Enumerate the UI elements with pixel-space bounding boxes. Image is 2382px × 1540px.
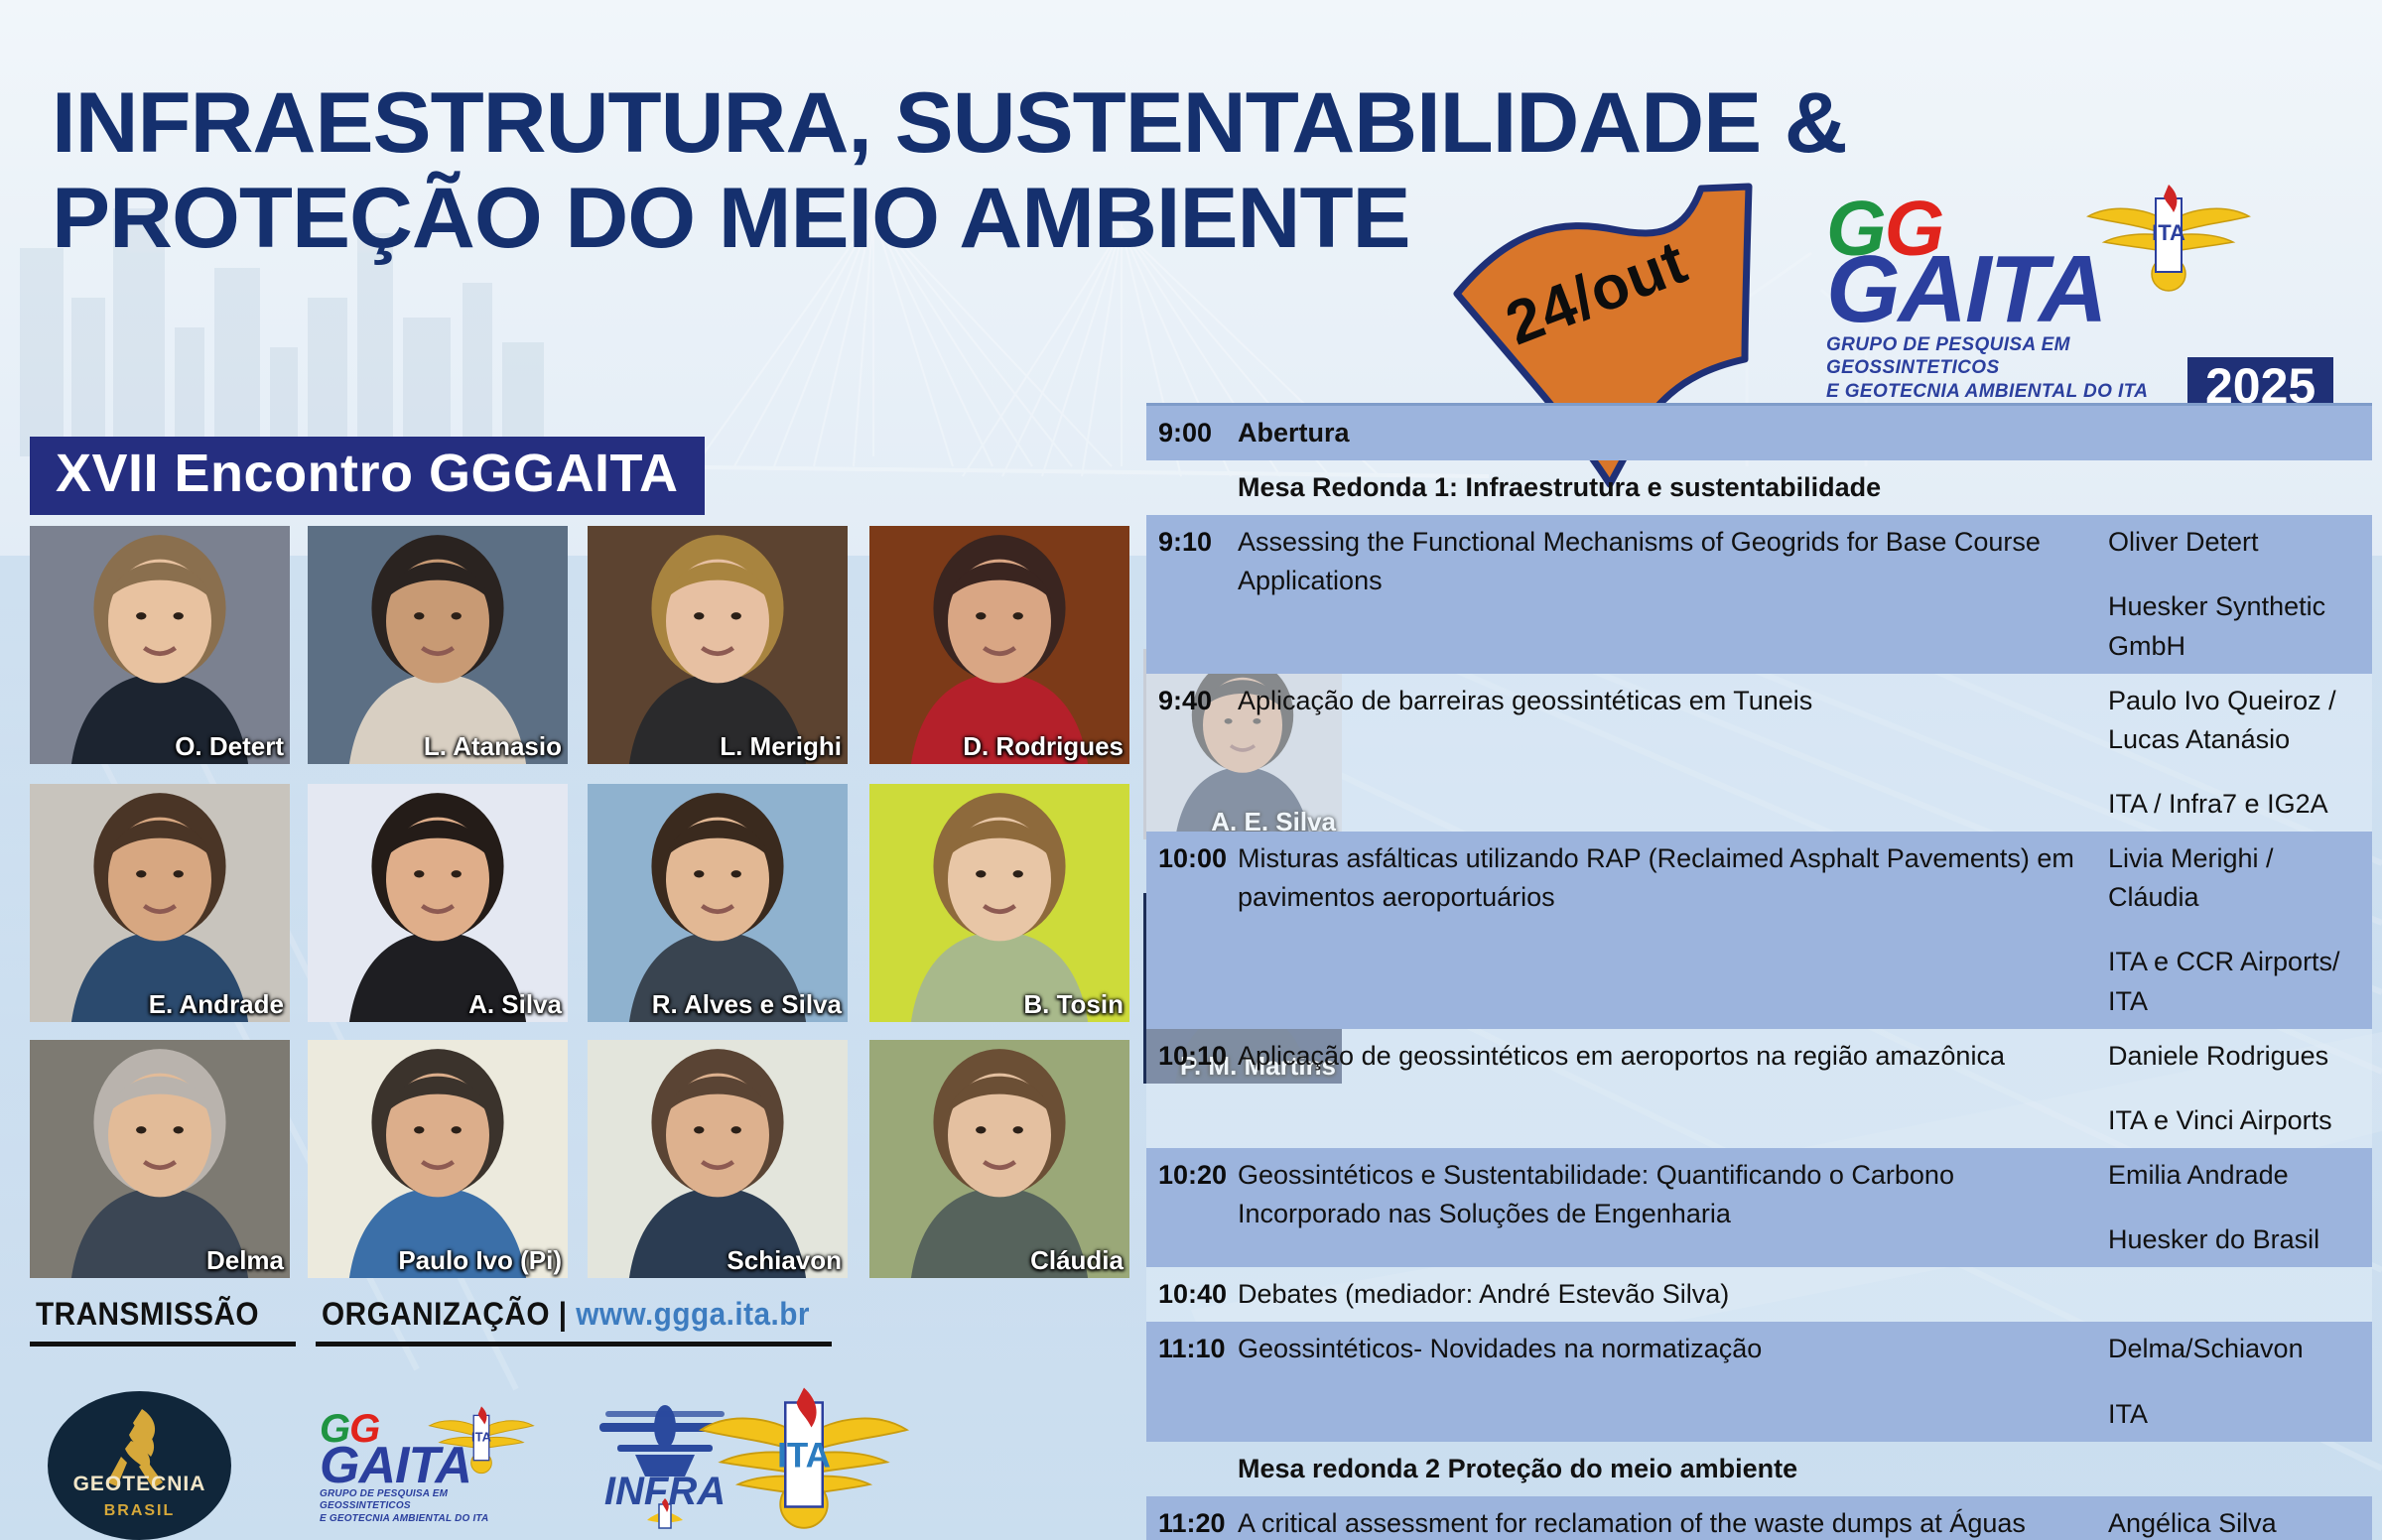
event-banner: XVII Encontro GGGAITA	[30, 437, 705, 515]
speaker-name-label: Schiavon	[727, 1245, 842, 1276]
speaker-name-label: L. Merighi	[720, 731, 842, 762]
schedule-time	[1146, 1442, 1238, 1451]
logo-subtitle-1: GRUPO DE PESQUISA EM GEOSSINTETICOS	[1826, 333, 2243, 381]
speaker-name: Paulo Ivo Queiroz / Lucas Atanásio	[2108, 686, 2336, 754]
organization-website[interactable]: www.ggga.ita.br	[576, 1296, 810, 1332]
schedule-row: 10:00Misturas asfálticas utilizando RAP …	[1146, 832, 2372, 1029]
svg-text:ITA: ITA	[471, 1429, 491, 1444]
svg-text:ITA: ITA	[777, 1437, 831, 1476]
schedule-title: Aplicação de barreiras geossintéticas em…	[1238, 674, 2102, 728]
schedule-title: Geossintéticos- Novidades na normatizaçã…	[1238, 1322, 2102, 1376]
footer-logo-sub-2: E GEOTECNIA AMBIENTAL DO ITA	[320, 1513, 528, 1526]
speaker-affiliation: ITA	[2108, 1395, 2366, 1434]
speaker-photo: L. Merighi	[588, 526, 848, 764]
schedule-row: 10:40Debates (mediador: André Estevão Si…	[1146, 1267, 2372, 1322]
speaker-affiliation: ITA e Vinci Airports	[2108, 1101, 2366, 1140]
page-title: INFRAESTRUTURA, SUSTENTABILIDADE & PROTE…	[52, 75, 1501, 267]
schedule-time: 9:00	[1146, 406, 1238, 450]
schedule-time: 11:10	[1146, 1322, 1238, 1366]
schedule-title: Aplicação de geossintéticos em aeroporto…	[1238, 1029, 2102, 1084]
schedule-row: 9:40Aplicação de barreiras geossintética…	[1146, 674, 2372, 832]
portrait-illustration	[588, 526, 848, 764]
logo-subtitle-2: E GEOTECNIA AMBIENTAL DO ITA	[1826, 380, 2243, 404]
speaker-affiliation: ITA e CCR Airports/ ITA	[2108, 943, 2366, 1020]
speaker-photo: Delma	[30, 1040, 290, 1278]
geotecnia-brasil-logo: GEOTECNIA BRASIL	[48, 1391, 231, 1540]
speaker-name-label: E. Andrade	[149, 989, 284, 1020]
speaker-name: Delma/Schiavon	[2108, 1334, 2304, 1363]
portrait-illustration	[308, 1040, 568, 1278]
schedule-row: 9:10Assessing the Functional Mechanisms …	[1146, 515, 2372, 673]
schedule-row: Mesa redonda 2 Proteção do meio ambiente	[1146, 1442, 2372, 1496]
portrait-illustration	[30, 1040, 290, 1278]
speaker-name: Livia Merighi / Cláudia	[2108, 843, 2274, 912]
speaker-name-label: D. Rodrigues	[963, 731, 1124, 762]
schedule-title: Misturas asfálticas utilizando RAP (Recl…	[1238, 832, 2102, 925]
organization-rule	[316, 1342, 832, 1347]
speaker-photo: Schiavon	[588, 1040, 848, 1278]
schedule-row: 11:10Geossintéticos- Novidades na normat…	[1146, 1322, 2372, 1441]
organization-text: ORGANIZAÇÃO |	[322, 1296, 567, 1332]
schedule-speaker: Paulo Ivo Queiroz / Lucas AtanásioITA / …	[2102, 674, 2372, 832]
schedule-row: 10:10Aplicação de geossintéticos em aero…	[1146, 1029, 2372, 1148]
schedule-time: 11:20	[1146, 1496, 1238, 1540]
speaker-photo: A. Silva	[308, 784, 568, 1022]
schedule-row: 9:00Abertura	[1146, 403, 2372, 460]
portrait-illustration	[30, 526, 290, 764]
schedule-time: 10:40	[1146, 1267, 1238, 1312]
speaker-name-label: O. Detert	[175, 731, 284, 762]
schedule-speaker: Daniele RodriguesITA e Vinci Airports	[2102, 1029, 2372, 1148]
speaker-photo: D. Rodrigues	[869, 526, 1129, 764]
speaker-photo: R. Alves e Silva	[588, 784, 848, 1022]
schedule-title: Geossintéticos e Sustentabilidade: Quant…	[1238, 1148, 2102, 1241]
schedule-title: Assessing the Functional Mechanisms of G…	[1238, 515, 2102, 608]
schedule-time: 10:00	[1146, 832, 1238, 876]
speaker-affiliation: ITA / Infra7 e IG2A	[2108, 785, 2366, 824]
speaker-name-label: B. Tosin	[1023, 989, 1124, 1020]
speaker-name-label: L. Atanasio	[424, 731, 562, 762]
schedule-speaker: Delma/SchiavonITA	[2102, 1322, 2372, 1441]
schedule-title: Abertura	[1238, 406, 2102, 460]
schedule-speaker: Livia Merighi / CláudiaITA e CCR Airport…	[2102, 832, 2372, 1029]
speaker-photo: E. Andrade	[30, 784, 290, 1022]
speaker-name-label: A. Silva	[468, 989, 562, 1020]
schedule-speaker: Angélica SilvaVale	[2102, 1496, 2372, 1540]
speaker-name-label: Paulo Ivo (Pi)	[398, 1245, 562, 1276]
footer-logo-sub-1: GRUPO DE PESQUISA EM GEOSSINTETICOS	[320, 1488, 528, 1513]
schedule-speaker	[2102, 460, 2372, 476]
schedule-speaker	[2102, 1267, 2372, 1283]
speaker-photo: Paulo Ivo (Pi)	[308, 1040, 568, 1278]
schedule-speaker	[2102, 1442, 2372, 1458]
transmission-label: TRANSMISSÃO	[36, 1296, 259, 1333]
speaker-photo: O. Detert	[30, 526, 290, 764]
portrait-illustration	[588, 1040, 848, 1278]
speaker-affiliation: Huesker Synthetic GmbH	[2108, 587, 2366, 665]
speaker-name-label: R. Alves e Silva	[652, 989, 842, 1020]
ita-wings-label: ITA	[2152, 220, 2185, 245]
footer-ita-wings-icon: ITA	[427, 1401, 536, 1478]
schedule-table: 9:00AberturaMesa Redonda 1: Infraestrutu…	[1146, 403, 2372, 1540]
schedule-time: 10:20	[1146, 1148, 1238, 1193]
schedule-speaker: Oliver DetertHuesker Synthetic GmbH	[2102, 515, 2372, 673]
organization-label: ORGANIZAÇÃO | www.ggga.ita.br	[322, 1296, 810, 1333]
geotecnia-name: GEOTECNIA	[48, 1473, 231, 1496]
schedule-title: Mesa redonda 2 Proteção do meio ambiente	[1238, 1442, 2102, 1496]
ita-wings-large-icon: ITA	[695, 1385, 913, 1534]
speaker-name: Emilia Andrade	[2108, 1160, 2289, 1190]
schedule-title: Mesa Redonda 1: Infraestrutura e sustent…	[1238, 460, 2102, 515]
portrait-illustration	[588, 784, 848, 1022]
speaker-name-label: Delma	[206, 1245, 284, 1276]
schedule-time: 9:40	[1146, 674, 1238, 718]
speaker-photo: B. Tosin	[869, 784, 1129, 1022]
schedule-time	[1146, 460, 1238, 469]
speaker-name: Oliver Detert	[2108, 527, 2259, 557]
portrait-illustration	[869, 526, 1129, 764]
speaker-name: Angélica Silva	[2108, 1508, 2277, 1538]
speaker-name-label: Cláudia	[1030, 1245, 1124, 1276]
schedule-row: 11:20A critical assessment for reclamati…	[1146, 1496, 2372, 1540]
portrait-illustration	[308, 784, 568, 1022]
schedule-speaker	[2102, 406, 2372, 422]
portrait-illustration	[30, 784, 290, 1022]
schedule-row: Mesa Redonda 1: Infraestrutura e sustent…	[1146, 460, 2372, 515]
speaker-name: Daniele Rodrigues	[2108, 1041, 2328, 1071]
schedule-row: 10:20Geossintéticos e Sustentabilidade: …	[1146, 1148, 2372, 1267]
transmission-rule	[30, 1342, 296, 1347]
ita-wings-icon: ITA	[2084, 179, 2253, 298]
schedule-speaker: Emilia AndradeHuesker do Brasil	[2102, 1148, 2372, 1267]
portrait-illustration	[308, 526, 568, 764]
geotecnia-sub: BRASIL	[48, 1502, 231, 1520]
schedule-title: A critical assessment for reclamation of…	[1238, 1496, 2102, 1540]
title-line-1: INFRAESTRUTURA, SUSTENTABILIDADE &	[52, 75, 1544, 171]
portrait-illustration	[869, 1040, 1129, 1278]
speaker-photo: L. Atanasio	[308, 526, 568, 764]
portrait-illustration	[869, 784, 1129, 1022]
schedule-time: 9:10	[1146, 515, 1238, 560]
speaker-photo: Cláudia	[869, 1040, 1129, 1278]
title-line-2: PROTEÇÃO DO MEIO AMBIENTE	[52, 171, 1544, 266]
schedule-time: 10:10	[1146, 1029, 1238, 1074]
schedule-title: Debates (mediador: André Estevão Silva)	[1238, 1267, 2102, 1322]
speaker-affiliation: Huesker do Brasil	[2108, 1220, 2366, 1259]
